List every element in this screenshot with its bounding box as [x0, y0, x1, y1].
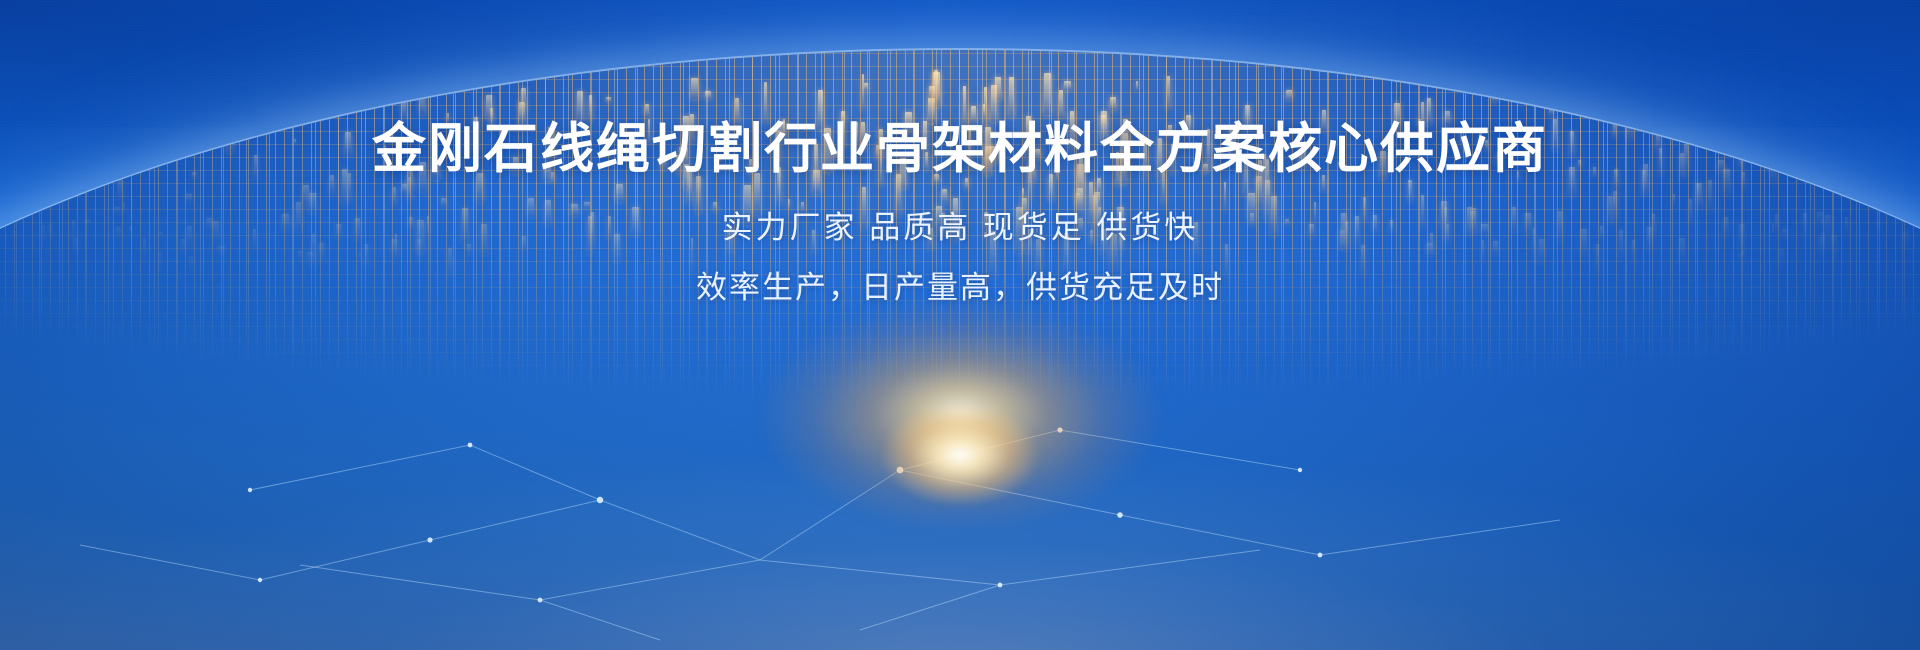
subtitle-line-2: 效率生产，日产量高，供货充足及时	[0, 264, 1920, 312]
hero-banner: 金刚石线绳切割行业骨架材料全方案核心供应商 实力厂家 品质高 现货足 供货快 效…	[0, 0, 1920, 650]
hero-text-block: 金刚石线绳切割行业骨架材料全方案核心供应商 实力厂家 品质高 现货足 供货快 效…	[0, 118, 1920, 312]
page-title: 金刚石线绳切割行业骨架材料全方案核心供应商	[0, 118, 1920, 182]
subtitle-line-1: 实力厂家 品质高 现货足 供货快	[0, 204, 1920, 252]
